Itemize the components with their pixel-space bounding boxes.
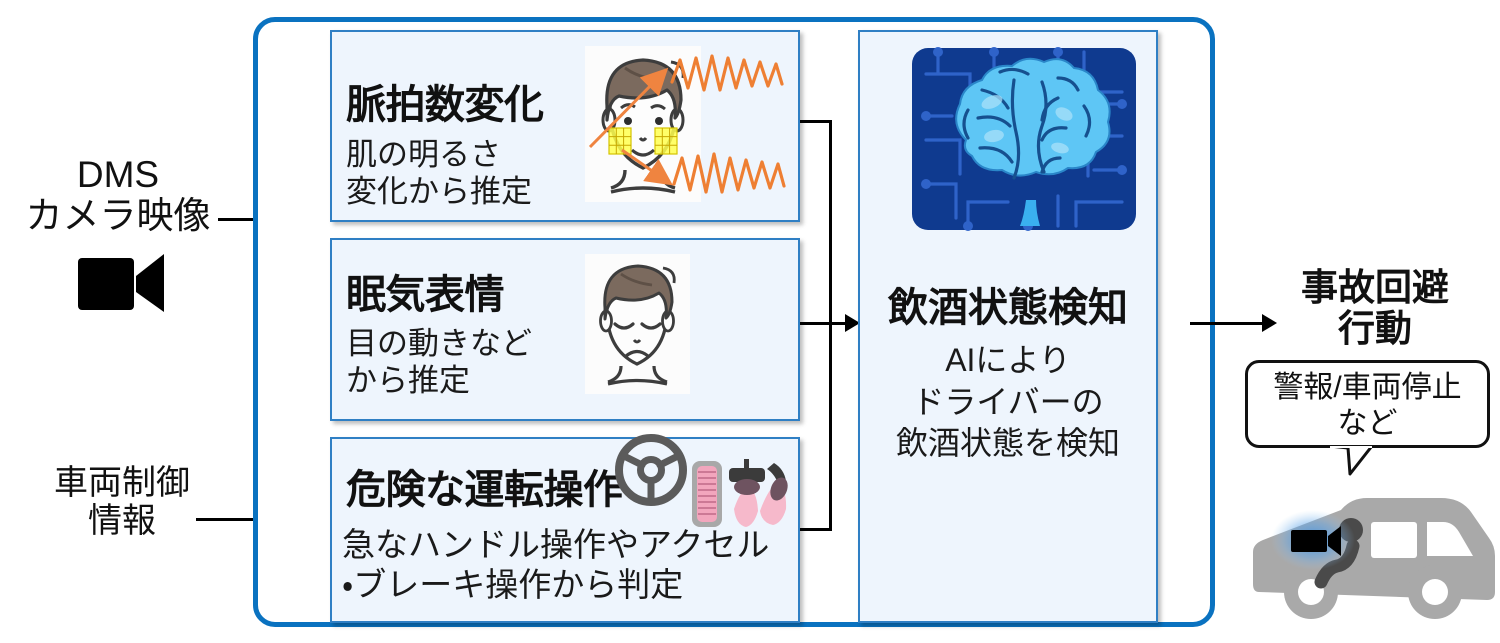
card-detection-subtitle: AIにより ドライバーの 飲酒状態を検知 (860, 340, 1156, 465)
car-illustration (1245, 480, 1495, 625)
connector-merge-bus (829, 120, 832, 531)
pulse-waveform-graphics (482, 42, 802, 217)
card-detection-title: 飲酒状態検知 (860, 275, 1156, 333)
card-drowsy-subtitle: 目の動きなど から推定 (346, 326, 532, 399)
input-label-vehicle: 車両制御 情報 (8, 464, 236, 540)
input-label-dms: DMS カメラ映像 (0, 154, 236, 237)
sleepy-face-illustration (585, 254, 690, 394)
diagram-canvas: DMS カメラ映像 車両制御 情報 脈拍数変化 肌の明るさ 変化から推定 (0, 0, 1500, 643)
card-driving[interactable]: 危険な運転操作 急なハンドル操作やアクセル ・ブレーキ操作から判定 (330, 437, 800, 623)
outcome-bubble-text: 警報/車両停止 など (1248, 370, 1487, 442)
pedals-icon (690, 447, 802, 545)
card-detection[interactable]: 飲酒状態検知 AIにより ドライバーの 飲酒状態を検知 Maisart (858, 30, 1158, 623)
card-pulse[interactable]: 脈拍数変化 肌の明るさ 変化から推定 (330, 30, 800, 222)
outcome-title: 事故回避 行動 (1255, 267, 1495, 350)
outcome-bubble: 警報/車両停止 など (1245, 360, 1490, 448)
connector-driving-out (800, 528, 832, 531)
bubble-tail (1328, 446, 1374, 476)
video-camera-icon (78, 252, 164, 314)
card-drowsy[interactable]: 眠気表情 目の動きなど から推定 (330, 238, 800, 421)
connector-pulse-out (800, 120, 832, 123)
steering-wheel-icon (615, 434, 687, 506)
card-drowsy-title: 眠気表情 (346, 262, 504, 320)
brain-circuit-icon (908, 44, 1140, 234)
card-driving-title: 危険な運転操作 (346, 457, 623, 515)
connector-drowsy-out (800, 322, 832, 325)
